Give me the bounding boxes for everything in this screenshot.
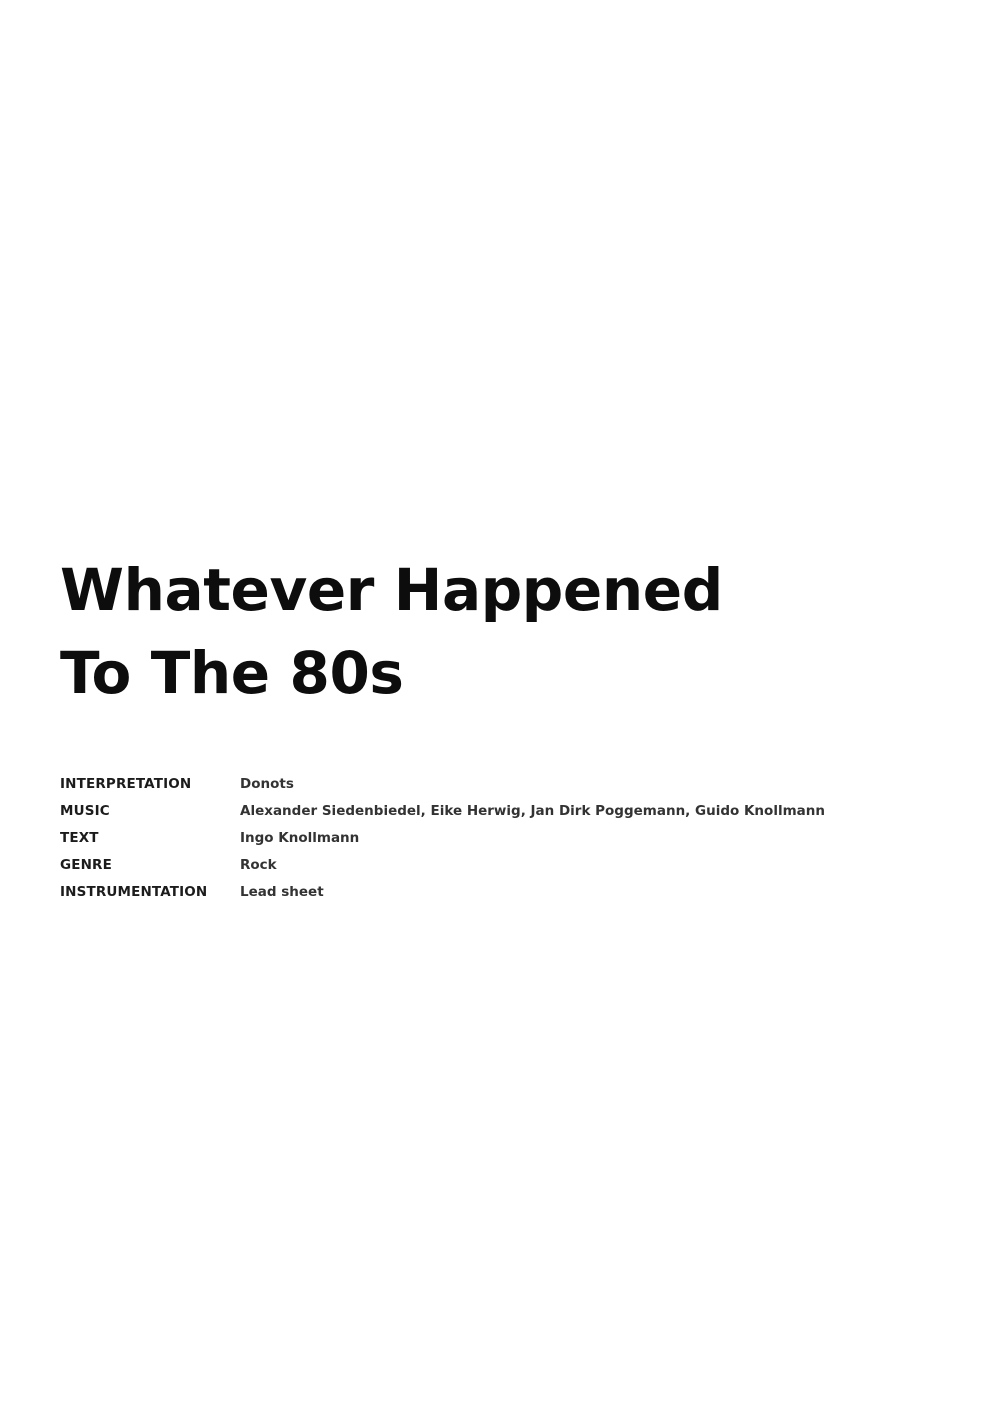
page-title: Whatever Happened To The 80s [60,549,880,715]
metadata-label-instrumentation: INSTRUMENTATION [60,879,240,906]
metadata-label-text: TEXT [60,825,240,852]
metadata-value-music: Alexander Siedenbiedel, Eike Herwig, Jan… [240,798,940,825]
metadata-row-music: MUSIC Alexander Siedenbiedel, Eike Herwi… [60,798,940,825]
metadata-value-instrumentation: Lead sheet [240,879,940,906]
metadata-value-interpretation: Donots [240,771,940,798]
title-line-1: Whatever Happened [60,549,880,632]
metadata-row-genre: GENRE Rock [60,852,940,879]
metadata-label-music: MUSIC [60,798,240,825]
metadata-row-instrumentation: INSTRUMENTATION Lead sheet [60,879,940,906]
metadata-label-genre: GENRE [60,852,240,879]
title-line-2: To The 80s [60,632,880,715]
metadata-row-text: TEXT Ingo Knollmann [60,825,940,852]
metadata-value-genre: Rock [240,852,940,879]
metadata-value-text: Ingo Knollmann [240,825,940,852]
document-page: Whatever Happened To The 80s INTERPRETAT… [0,0,1000,1414]
metadata-list: INTERPRETATION Donots MUSIC Alexander Si… [60,771,940,906]
metadata-label-interpretation: INTERPRETATION [60,771,240,798]
metadata-row-interpretation: INTERPRETATION Donots [60,771,940,798]
